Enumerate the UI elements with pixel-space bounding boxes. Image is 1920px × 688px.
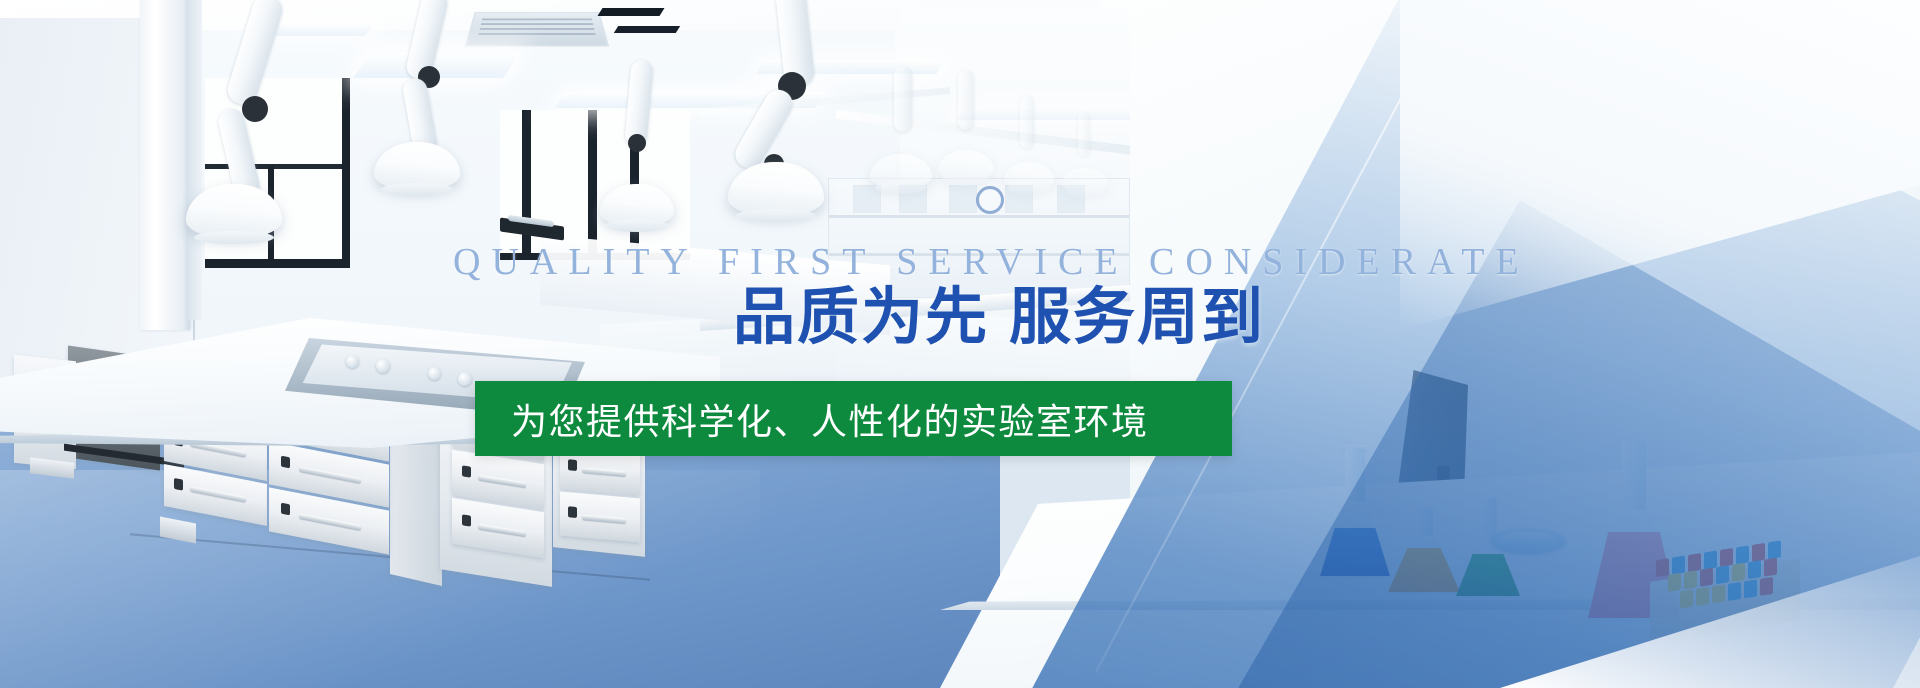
tube-cap-blue xyxy=(1748,560,1761,579)
petri-dish-contents xyxy=(1498,532,1556,547)
window-frame-right xyxy=(342,78,350,268)
tube-cap-yellow xyxy=(1712,584,1725,603)
window-mullion-horizontal xyxy=(205,164,350,169)
window-mullion xyxy=(522,110,531,260)
headline-part-1: 品质为先 xyxy=(733,280,989,353)
drawer-lock-icon xyxy=(462,465,471,477)
flask-neck xyxy=(1622,440,1646,512)
drawer-lock-icon xyxy=(281,503,290,516)
ceiling-vent-slot xyxy=(614,26,680,33)
erlenmeyer-flask-orange xyxy=(1388,508,1460,594)
shelf-board xyxy=(829,215,1129,218)
drawer-lock-icon xyxy=(568,459,577,471)
drawer-handle xyxy=(299,513,361,530)
hero-banner: QUALITY FIRST SERVICE CONSIDERATE 品质为先服务… xyxy=(0,0,1920,688)
bench-control-knob xyxy=(428,367,441,380)
tube-cap-yellow xyxy=(1680,590,1693,609)
drawer-handle xyxy=(582,467,626,476)
flask-liquid-orange xyxy=(1388,548,1460,592)
arm-segment xyxy=(958,70,974,130)
window-sill xyxy=(205,259,350,268)
bench-control-knob xyxy=(376,359,390,373)
drawer xyxy=(560,492,640,543)
drawer-lock-icon xyxy=(568,506,577,518)
drawer-handle xyxy=(478,524,526,537)
drawer-lock-icon xyxy=(462,514,471,526)
tube-cap-yellow xyxy=(1696,587,1709,606)
drawer-handle xyxy=(299,466,361,483)
shelf-box xyxy=(949,185,977,213)
structural-column-shadow xyxy=(188,0,202,320)
wall-sign-icon xyxy=(976,186,1004,214)
ceiling-vent-slot xyxy=(598,8,665,16)
arm-segment xyxy=(894,66,912,132)
arm-joint xyxy=(628,134,646,152)
window-center xyxy=(500,110,690,260)
subtitle-text: 为您提供科学化、人性化的实验室环境 xyxy=(511,393,1149,445)
tube-cap-blue xyxy=(1744,579,1757,598)
headline-part-2: 服务周到 xyxy=(1009,280,1265,353)
arm-joint xyxy=(242,96,268,122)
arm-segment xyxy=(1078,112,1090,156)
subtitle-banner: 为您提供科学化、人性化的实验室环境 xyxy=(475,381,1232,456)
window-mullion xyxy=(588,110,597,260)
tube-cap-red xyxy=(1760,577,1773,596)
drawer-handle xyxy=(582,514,626,523)
structural-column xyxy=(140,0,190,330)
flask-neck xyxy=(1345,448,1365,506)
arm-segment xyxy=(1020,96,1034,148)
extraction-hood xyxy=(1004,162,1054,189)
tube-cap-yellow xyxy=(1668,573,1681,592)
bench-control-knob xyxy=(346,355,359,368)
flask-neck xyxy=(1415,508,1433,538)
headline: 品质为先服务周到 xyxy=(733,282,1265,351)
drawer-lock-icon xyxy=(281,456,290,469)
tube-cap-blue xyxy=(1728,582,1741,601)
tube-cap-yellow xyxy=(1684,570,1697,589)
tube-cap-blue xyxy=(1716,565,1729,584)
tube-cap-red xyxy=(1700,568,1713,587)
flask-liquid-blue xyxy=(1320,528,1390,576)
drawer-handle xyxy=(478,475,526,488)
ceiling-ac-vent-icon xyxy=(465,12,610,47)
erlenmeyer-flask-blue xyxy=(1320,448,1390,578)
tube-cap-yellow xyxy=(1732,563,1745,582)
drawer-handle xyxy=(190,486,246,502)
bench-control-knob xyxy=(458,372,472,386)
tube-cap-red xyxy=(1764,558,1777,577)
flask-liquid-green xyxy=(1456,554,1520,596)
english-tagline: QUALITY FIRST SERVICE CONSIDERATE xyxy=(453,243,1530,281)
drawer-lock-icon xyxy=(174,478,183,491)
extraction-hood xyxy=(1062,168,1108,192)
